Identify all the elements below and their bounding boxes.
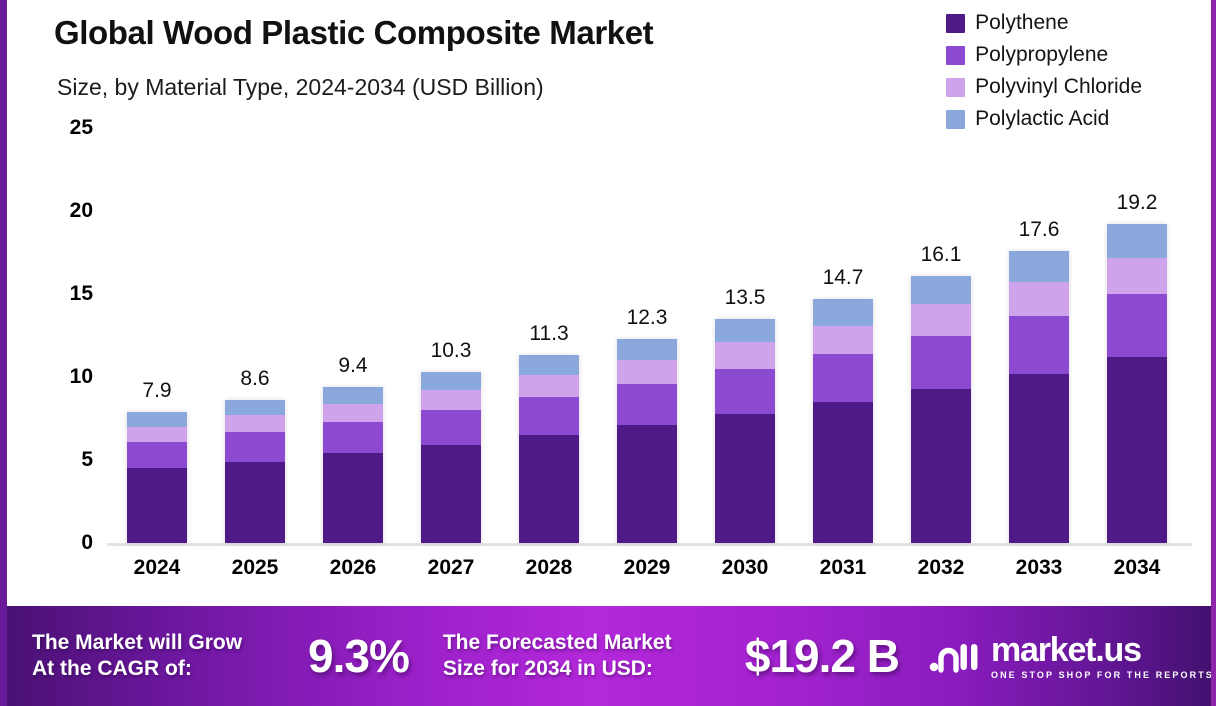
market-us-logo[interactable]: market.us ONE STOP SHOP FOR THE REPORTS (929, 633, 1214, 680)
cagr-caption: The Market will Grow At the CAGR of: (32, 630, 302, 682)
bar-value-label: 10.3 (431, 339, 472, 363)
stacked-bar[interactable]: 12.3 (617, 339, 677, 543)
bar-segment[interactable] (1009, 251, 1069, 283)
x-axis-tick-label: 2025 (205, 556, 305, 580)
stacked-bar[interactable]: 16.1 (911, 276, 971, 543)
bar-segment[interactable] (1107, 224, 1167, 257)
bar-segment[interactable] (617, 360, 677, 383)
bar-segment[interactable] (225, 462, 285, 543)
bar-segment[interactable] (1107, 258, 1167, 295)
x-axis-tick-label: 2024 (107, 556, 207, 580)
bar-segment[interactable] (715, 319, 775, 342)
x-axis-tick-label: 2030 (695, 556, 795, 580)
x-axis-tick-label: 2034 (1087, 556, 1187, 580)
x-axis-tick-label: 2033 (989, 556, 1089, 580)
bar-value-label: 17.6 (1019, 218, 1060, 242)
bar-value-label: 16.1 (921, 243, 962, 267)
bar-group[interactable]: 12.3 (617, 339, 677, 543)
bar-segment[interactable] (127, 412, 187, 427)
bar-group[interactable]: 9.4 (323, 387, 383, 543)
bar-segment[interactable] (617, 384, 677, 426)
stacked-bar[interactable]: 17.6 (1009, 251, 1069, 543)
x-axis-tick-label: 2026 (303, 556, 403, 580)
bar-segment[interactable] (1009, 282, 1069, 315)
stacked-bar[interactable]: 8.6 (225, 400, 285, 543)
bar-segment[interactable] (323, 422, 383, 454)
stacked-bar[interactable]: 10.3 (421, 372, 481, 543)
market-us-logo-icon (929, 636, 981, 676)
bar-segment[interactable] (421, 410, 481, 445)
bar-segment[interactable] (617, 425, 677, 543)
bar-value-label: 19.2 (1117, 191, 1158, 215)
cagr-value: 9.3% (308, 629, 409, 683)
stacked-bar[interactable]: 9.4 (323, 387, 383, 543)
bar-segment[interactable] (519, 355, 579, 375)
bar-segment[interactable] (127, 468, 187, 543)
x-axis-tick-label: 2027 (401, 556, 501, 580)
bar-value-label: 7.9 (142, 379, 171, 403)
bar-segment[interactable] (715, 414, 775, 543)
bar-segment[interactable] (225, 400, 285, 415)
bar-group[interactable]: 16.1 (911, 276, 971, 543)
bar-value-label: 8.6 (240, 367, 269, 391)
infographic-root: Global Wood Plastic Composite Market Siz… (0, 0, 1216, 706)
bar-segment[interactable] (519, 435, 579, 543)
bar-segment[interactable] (323, 387, 383, 404)
bar-segment[interactable] (911, 336, 971, 389)
bar-segment[interactable] (323, 404, 383, 422)
bar-segment[interactable] (715, 369, 775, 414)
bar-group[interactable]: 13.5 (715, 319, 775, 543)
bar-segment[interactable] (813, 354, 873, 402)
x-axis-tick-label: 2031 (793, 556, 893, 580)
bar-value-label: 11.3 (529, 322, 568, 346)
bar-group[interactable]: 19.2 (1107, 224, 1167, 543)
bar-segment[interactable] (1107, 357, 1167, 543)
bar-segment[interactable] (519, 375, 579, 397)
bar-segment[interactable] (225, 415, 285, 432)
bar-value-label: 9.4 (338, 354, 367, 378)
stacked-bar[interactable]: 13.5 (715, 319, 775, 543)
bar-segment[interactable] (421, 445, 481, 543)
footer-banner: The Market will Grow At the CAGR of: 9.3… (7, 606, 1216, 706)
bar-segment[interactable] (911, 304, 971, 336)
bar-segment[interactable] (127, 442, 187, 469)
bar-group[interactable]: 17.6 (1009, 251, 1069, 543)
chart-plot-area: 0510152025 7.920248.620259.4202610.32027… (7, 0, 1216, 606)
bar-segment[interactable] (911, 389, 971, 543)
bar-segment[interactable] (1009, 374, 1069, 543)
bar-value-label: 14.7 (823, 266, 864, 290)
bar-segment[interactable] (421, 390, 481, 410)
bar-group[interactable]: 14.7 (813, 299, 873, 543)
bar-value-label: 12.3 (627, 306, 668, 330)
bar-segment[interactable] (617, 339, 677, 361)
bar-segment[interactable] (127, 427, 187, 442)
forecast-value: $19.2 B (745, 629, 899, 683)
bar-group[interactable]: 11.3 (519, 355, 579, 543)
bar-group[interactable]: 10.3 (421, 372, 481, 543)
stacked-bar[interactable]: 11.3 (519, 355, 579, 543)
forecast-caption: The Forecasted Market Size for 2034 in U… (443, 630, 743, 682)
bar-segment[interactable] (1107, 294, 1167, 357)
bar-segment[interactable] (911, 276, 971, 304)
bar-segment[interactable] (323, 453, 383, 543)
bar-segment[interactable] (1009, 316, 1069, 374)
stacked-bar[interactable]: 14.7 (813, 299, 873, 543)
x-axis-tick-label: 2029 (597, 556, 697, 580)
bar-value-label: 13.5 (725, 286, 766, 310)
bar-segment[interactable] (813, 326, 873, 354)
bar-segment[interactable] (225, 432, 285, 462)
stacked-bar[interactable]: 7.9 (127, 412, 187, 543)
bar-segment[interactable] (813, 402, 873, 543)
logo-tagline: ONE STOP SHOP FOR THE REPORTS (991, 671, 1214, 680)
bar-segment[interactable] (813, 299, 873, 326)
bar-group[interactable]: 8.6 (225, 400, 285, 543)
x-axis-tick-label: 2028 (499, 556, 599, 580)
logo-wordmark: market.us (991, 633, 1214, 667)
x-axis-tick-label: 2032 (891, 556, 991, 580)
bar-segment[interactable] (519, 397, 579, 435)
bar-segment[interactable] (421, 372, 481, 390)
bar-segment[interactable] (715, 342, 775, 369)
bar-group[interactable]: 7.9 (127, 412, 187, 543)
bars-layer: 7.920248.620259.4202610.3202711.3202812.… (7, 0, 1216, 606)
stacked-bar[interactable]: 19.2 (1107, 224, 1167, 543)
